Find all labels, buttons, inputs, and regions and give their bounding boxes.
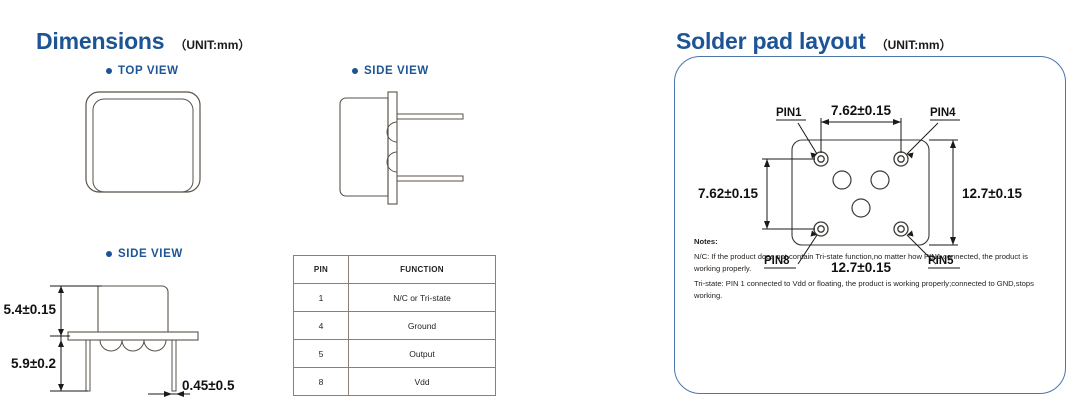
cell-pin: 5 — [294, 340, 349, 368]
bullet-icon — [352, 68, 358, 74]
pin-function-table: PIN FUNCTION 1 N/C or Tri-state 4 Ground… — [293, 255, 496, 396]
top-view-label: TOP VIEW — [106, 65, 179, 77]
top-view-label-text: TOP VIEW — [118, 65, 179, 77]
pad-pin8 — [814, 222, 828, 236]
notes-line-tristate: Tri-state: PIN 1 connected to Vdd or flo… — [694, 278, 1034, 302]
table-row: 4 Ground — [294, 312, 496, 340]
pin1-label: PIN1 — [776, 107, 802, 119]
dim-left-vertical: 7.62±0.15 — [698, 186, 758, 201]
solder-pad-title-row: Solder pad layout （UNIT:mm） — [676, 28, 952, 55]
side-view-lower-label-text: SIDE VIEW — [118, 248, 183, 260]
notes-block: Notes: N/C: If the product does not cont… — [694, 236, 1034, 306]
solder-pad-panel: Solder pad layout （UNIT:mm） 7.62±0.15 — [660, 0, 1080, 420]
table-header-row: PIN FUNCTION — [294, 256, 496, 284]
header-pin: PIN — [294, 256, 349, 284]
pin4-label: PIN4 — [930, 107, 956, 119]
cell-pin: 1 — [294, 284, 349, 312]
dimensions-title-row: Dimensions （UNIT:mm） — [36, 28, 250, 55]
bullet-icon — [106, 68, 112, 74]
dim-top-horizontal: 7.62±0.15 — [831, 103, 891, 118]
cell-function: Output — [349, 340, 496, 368]
side-view-upper-label-text: SIDE VIEW — [364, 65, 429, 77]
solder-pad-unit-label: （UNIT:mm） — [876, 36, 952, 53]
cell-function: Ground — [349, 312, 496, 340]
cell-function: N/C or Tri-state — [349, 284, 496, 312]
dimensions-panel: Dimensions （UNIT:mm） TOP VIEW SIDE VIEW … — [0, 0, 660, 420]
dim-lead-width: 0.45±0.5 — [182, 378, 235, 393]
side-view-lower-drawing: 5.4±0.15 5.9±0.2 0.45±0.5 — [30, 272, 280, 397]
dim-height-lead: 5.9±0.2 — [11, 356, 56, 371]
table-row: 1 N/C or Tri-state — [294, 284, 496, 312]
notes-heading: Notes: — [694, 236, 1034, 248]
dimensions-title: Dimensions — [36, 28, 164, 55]
hole-upper-left — [833, 171, 851, 189]
top-view-drawing — [80, 86, 210, 201]
dim-height-body: 5.4±0.15 — [4, 302, 57, 317]
table-row: 5 Output — [294, 340, 496, 368]
dim-right-vertical: 12.7±0.15 — [962, 186, 1022, 201]
cell-pin: 8 — [294, 368, 349, 396]
cell-pin: 4 — [294, 312, 349, 340]
pad-pin4 — [894, 152, 908, 166]
pad-pin5 — [894, 222, 908, 236]
side-view-lower-label: SIDE VIEW — [106, 248, 183, 260]
solder-pad-title: Solder pad layout — [676, 28, 866, 55]
header-function: FUNCTION — [349, 256, 496, 284]
side-view-upper-label: SIDE VIEW — [352, 65, 429, 77]
dimensions-unit-label: （UNIT:mm） — [174, 36, 250, 53]
table-row: 8 Vdd — [294, 368, 496, 396]
cell-function: Vdd — [349, 368, 496, 396]
hole-center — [852, 199, 870, 217]
side-view-upper-drawing — [336, 88, 496, 208]
bullet-icon — [106, 251, 112, 257]
hole-upper-right — [871, 171, 889, 189]
notes-line-nc: N/C: If the product does not contain Tri… — [694, 251, 1034, 275]
